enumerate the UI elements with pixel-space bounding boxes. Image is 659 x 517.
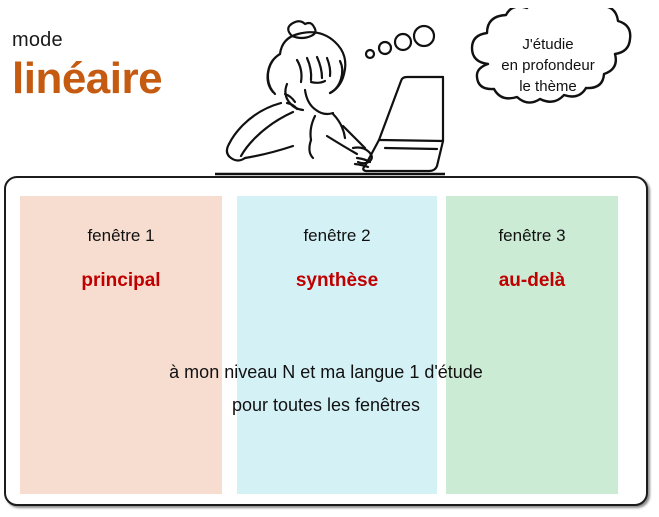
panel-1-window-label: fenêtre 1 [20, 226, 222, 246]
panel-fenetre-3[interactable]: fenêtre 3 au-delà [446, 196, 618, 494]
panel-fenetre-2[interactable]: fenêtre 2 synthèse [237, 196, 437, 494]
bubble-line-2: en profondeur [501, 57, 594, 74]
bubble-line-1: J'étudie [522, 36, 573, 53]
thought-bubble: J'étudieen profondeurle thème [444, 8, 652, 134]
panel-1-mode-label: principal [20, 270, 222, 292]
windows-card: fenêtre 1 principal fenêtre 2 synthèse f… [4, 176, 648, 506]
title-main: linéaire [12, 54, 232, 104]
page-title: mode linéaire [12, 28, 232, 104]
bubble-line-3: le thème [519, 78, 577, 95]
panel-2-window-label: fenêtre 2 [237, 226, 437, 246]
thought-bubble-text: J'étudieen profondeurle thème [472, 34, 624, 97]
header: mode linéaire [0, 0, 659, 175]
panel-3-window-label: fenêtre 3 [446, 226, 618, 246]
panel-2-mode-label: synthèse [237, 270, 437, 292]
panel-3-mode-label: au-delà [446, 270, 618, 292]
title-small: mode [12, 28, 232, 52]
panel-fenetre-1[interactable]: fenêtre 1 principal [20, 196, 222, 494]
student-at-laptop-icon [215, 8, 445, 176]
